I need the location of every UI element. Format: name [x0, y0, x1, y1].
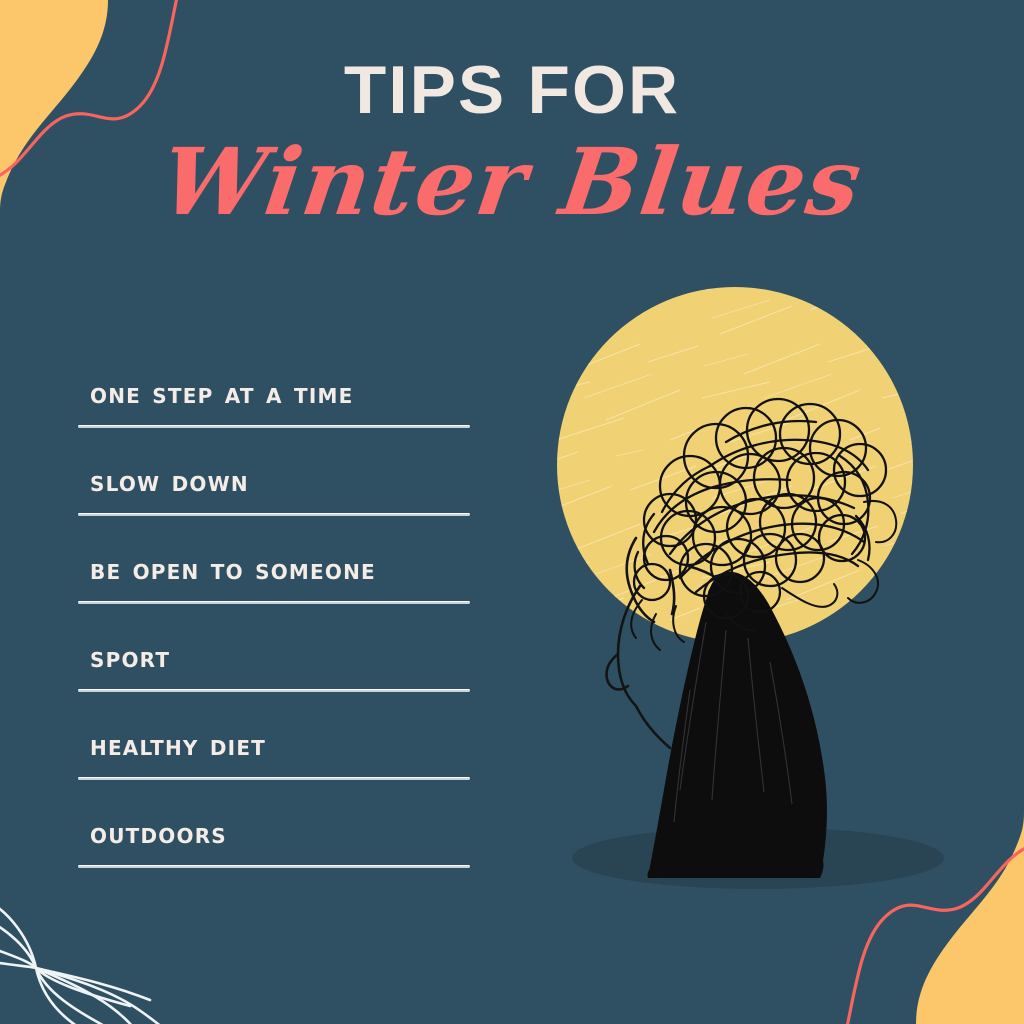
tip-label: One Step At A Time	[90, 376, 353, 410]
tip-label: Be Open To Someone	[90, 552, 376, 586]
list-item[interactable]: One Step At A Time	[78, 348, 470, 436]
tip-divider	[78, 513, 470, 516]
tip-label: Outdoors	[90, 816, 227, 850]
list-item[interactable]: Sport	[78, 612, 470, 700]
poster-canvas: TIPS FOR Winter Blues One Step At A Time…	[0, 0, 1024, 1024]
tip-divider	[78, 865, 470, 868]
illustration-woman-with-scribbled-hair	[520, 270, 960, 890]
list-item[interactable]: Outdoors	[78, 788, 470, 876]
bottom-left-strands	[0, 900, 150, 1024]
tips-list: One Step At A Time Slow Down Be Open To …	[78, 348, 470, 876]
tip-label: Sport	[90, 640, 170, 674]
tip-divider	[78, 777, 470, 780]
page-subtitle-script: Winter Blues	[0, 130, 1024, 236]
tip-label: Healthy Diet	[90, 728, 266, 762]
list-item[interactable]: Be Open To Someone	[78, 524, 470, 612]
tip-divider	[78, 601, 470, 604]
list-item[interactable]: Healthy Diet	[78, 700, 470, 788]
tip-divider	[78, 689, 470, 692]
tip-label: Slow Down	[90, 464, 249, 498]
page-title: TIPS FOR	[0, 56, 1024, 124]
list-item[interactable]: Slow Down	[78, 436, 470, 524]
bottom-left-strands-lower	[36, 968, 172, 1024]
tip-divider	[78, 425, 470, 428]
